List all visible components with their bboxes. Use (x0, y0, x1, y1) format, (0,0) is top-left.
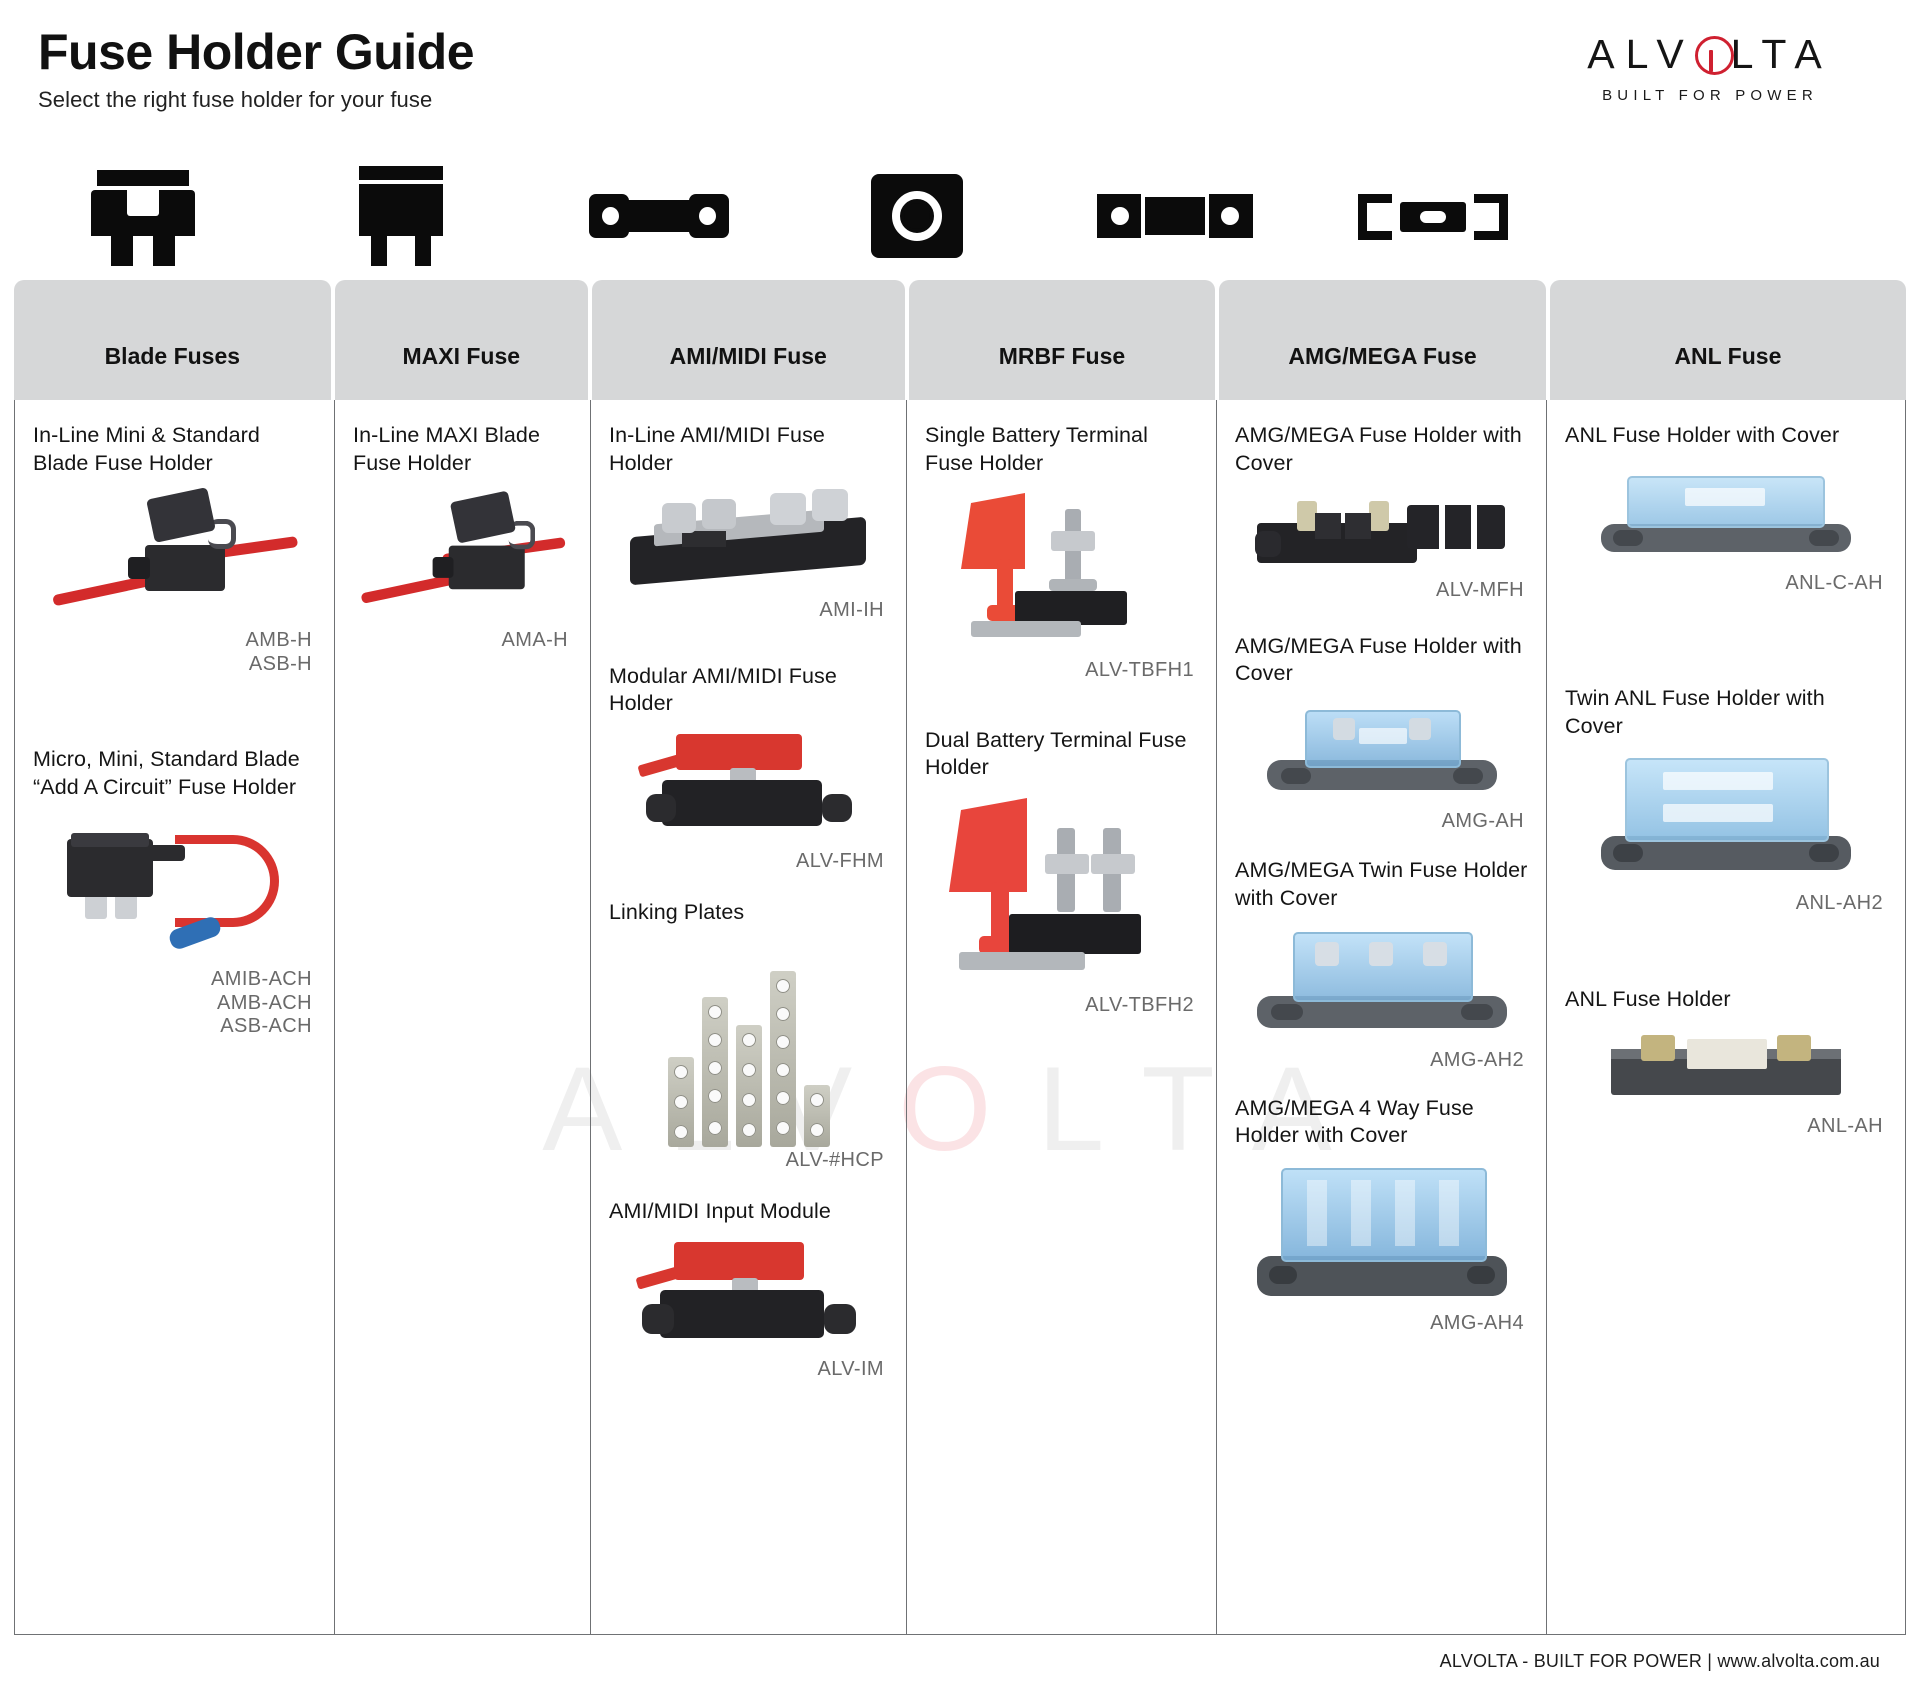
table-header-row: Blade Fuses MAXI Fuse AMI/MIDI Fuse MRBF… (14, 280, 1906, 400)
column-mrbf-fuse: Single Battery Terminal Fuse Holder ALV-… (906, 400, 1216, 1635)
product-sku: ALV-TBFH1 (925, 659, 1198, 683)
product-sku: ALV-MFH (1235, 579, 1528, 603)
product-image-anl-ah (1611, 1023, 1841, 1113)
product-name: Modular AMI/MIDI Fuse Holder (609, 663, 888, 718)
fuse-type-icon-strip (14, 146, 1906, 266)
product-name: AMI/MIDI Input Module (609, 1198, 888, 1226)
product-alv-tbfh2[interactable]: Dual Battery Terminal Fuse Holder ALV-TB… (925, 727, 1198, 1018)
product-image-anl-ah2 (1601, 750, 1851, 890)
product-image-linking-plates (634, 937, 864, 1147)
product-image-amg-ah2 (1257, 922, 1507, 1047)
column-blade-fuses: In-Line Mini & Standard Blade Fuse Holde… (14, 400, 334, 1635)
brand-logo: ALVOLTA BUILT FOR POWER (1550, 34, 1870, 104)
product-sku: AMG-AH (1235, 810, 1528, 834)
product-name: Single Battery Terminal Fuse Holder (925, 422, 1198, 477)
product-name: In-Line AMI/MIDI Fuse Holder (609, 422, 888, 477)
product-image-anl-c-ah (1601, 460, 1851, 570)
product-sku: ANL-AH (1565, 1115, 1887, 1139)
product-name: Dual Battery Terminal Fuse Holder (925, 727, 1198, 782)
product-name: AMG/MEGA Fuse Holder with Cover (1235, 633, 1528, 688)
product-anl-c-ah[interactable]: ANL Fuse Holder with Cover ANL-C-AH (1565, 422, 1887, 595)
product-name: AMG/MEGA Twin Fuse Holder with Cover (1235, 857, 1528, 912)
product-image-mega-holder-cover (1257, 487, 1507, 577)
column-header-ami-midi-fuse: AMI/MIDI Fuse (592, 280, 905, 400)
column-header-mrbf-fuse: MRBF Fuse (909, 280, 1216, 400)
product-image-single-battery-terminal (957, 487, 1167, 657)
column-header-blade-fuses: Blade Fuses (14, 280, 331, 400)
product-name: Twin ANL Fuse Holder with Cover (1565, 685, 1887, 740)
product-sku: AMIB-ACH (33, 968, 316, 992)
product-sku: ALV-TBFH2 (925, 994, 1198, 1018)
maxi-fuse-icon (347, 166, 455, 266)
anl-fuse-icon (1358, 194, 1508, 240)
product-alv-hcp[interactable]: Linking Plates ALV-#HCP (609, 899, 888, 1172)
product-sku: AMB-H (33, 629, 316, 653)
fuse-holder-guide-page: Fuse Holder Guide Select the right fuse … (0, 0, 1920, 1705)
product-sku: AMI-IH (609, 599, 888, 623)
product-ami-ih[interactable]: In-Line AMI/MIDI Fuse Holder AMI-IH (609, 422, 888, 623)
icon-cell-mrbf (788, 156, 1046, 266)
icon-cell-anl (1304, 156, 1562, 266)
product-amg-ah2[interactable]: AMG/MEGA Twin Fuse Holder with Cover AMG… (1235, 857, 1528, 1073)
ami-midi-fuse-icon (589, 192, 729, 240)
blade-fuse-icon (89, 170, 197, 266)
logo-text-left: ALV (1587, 31, 1694, 77)
product-amb-ach[interactable]: Micro, Mini, Standard Blade “Add A Circu… (33, 746, 316, 1039)
product-alv-fhm[interactable]: Modular AMI/MIDI Fuse Holder ALV-FHM (609, 663, 888, 874)
product-image-amg-ah (1267, 698, 1497, 808)
logo-text-right: LTA (1731, 31, 1833, 77)
product-sku: AMA-H (353, 629, 572, 653)
amg-mega-fuse-icon (1097, 194, 1253, 238)
product-sku: ASB-ACH (33, 1015, 316, 1039)
product-image-modular-ami-holder (634, 728, 864, 848)
product-image-inline-maxi-holder (359, 491, 568, 624)
product-image-inline-blade-holder (50, 487, 300, 627)
product-image-ami-inline-holder (624, 487, 874, 597)
product-image-ami-input-module (634, 1236, 864, 1356)
product-amb-h[interactable]: In-Line Mini & Standard Blade Fuse Holde… (33, 422, 316, 676)
product-sku: ALV-#HCP (609, 1149, 888, 1173)
logo-tagline: BUILT FOR POWER (1550, 87, 1870, 104)
product-name: AMG/MEGA 4 Way Fuse Holder with Cover (1235, 1095, 1528, 1150)
logo-wordmark: ALVOLTA (1587, 34, 1833, 75)
product-name: Linking Plates (609, 899, 888, 927)
product-name: ANL Fuse Holder with Cover (1565, 422, 1887, 450)
logo-o-icon: O (1695, 34, 1731, 75)
product-name: In-Line Mini & Standard Blade Fuse Holde… (33, 422, 316, 477)
product-name: AMG/MEGA Fuse Holder with Cover (1235, 422, 1528, 477)
product-sku: ANL-AH2 (1565, 892, 1887, 916)
product-alv-im[interactable]: AMI/MIDI Input Module ALV-IM (609, 1198, 888, 1381)
product-sku: ANL-C-AH (1565, 572, 1887, 596)
product-amg-ah4[interactable]: AMG/MEGA 4 Way Fuse Holder with Cover AM… (1235, 1095, 1528, 1336)
column-anl-fuse: ANL Fuse Holder with Cover ANL-C-AH Twin… (1546, 400, 1906, 1635)
product-ama-h[interactable]: In-Line MAXI Blade Fuse Holder AMA-H (353, 422, 572, 653)
icon-cell-amg (1046, 156, 1304, 266)
product-anl-ah[interactable]: ANL Fuse Holder ANL-AH (1565, 986, 1887, 1139)
table-body-row: In-Line Mini & Standard Blade Fuse Holde… (14, 400, 1906, 1635)
product-alv-mfh[interactable]: AMG/MEGA Fuse Holder with Cover ALV-MFH (1235, 422, 1528, 603)
column-header-maxi-fuse: MAXI Fuse (335, 280, 588, 400)
product-sku: ALV-IM (609, 1358, 888, 1382)
product-sku: AMB-ACH (33, 992, 316, 1016)
column-amg-mega-fuse: AMG/MEGA Fuse Holder with Cover ALV-MFH … (1216, 400, 1546, 1635)
mrbf-fuse-icon (871, 174, 963, 258)
icon-cell-ami (530, 156, 788, 266)
product-alv-tbfh1[interactable]: Single Battery Terminal Fuse Holder ALV-… (925, 422, 1198, 683)
icon-cell-maxi (272, 156, 530, 266)
product-name: ANL Fuse Holder (1565, 986, 1887, 1014)
column-maxi-fuse: In-Line MAXI Blade Fuse Holder AMA-H (334, 400, 590, 1635)
product-sku: ASB-H (33, 653, 316, 677)
product-image-amg-ah4 (1257, 1160, 1507, 1310)
product-amg-ah[interactable]: AMG/MEGA Fuse Holder with Cover AMG-AH (1235, 633, 1528, 834)
page-header: Fuse Holder Guide Select the right fuse … (14, 0, 1906, 140)
product-name: Micro, Mini, Standard Blade “Add A Circu… (33, 746, 316, 801)
page-footer: ALVOLTA - BUILT FOR POWER | www.alvolta.… (14, 1635, 1906, 1672)
column-ami-midi-fuse: In-Line AMI/MIDI Fuse Holder AMI-IH Modu… (590, 400, 906, 1635)
product-image-add-a-circuit (45, 811, 305, 966)
icon-cell-blade (14, 156, 272, 266)
product-anl-ah2[interactable]: Twin ANL Fuse Holder with Cover ANL-AH2 (1565, 685, 1887, 916)
column-header-anl-fuse: ANL Fuse (1550, 280, 1906, 400)
product-sku: ALV-FHM (609, 850, 888, 874)
product-image-dual-battery-terminal (947, 792, 1177, 992)
product-sku: AMG-AH2 (1235, 1049, 1528, 1073)
column-header-amg-mega-fuse: AMG/MEGA Fuse (1219, 280, 1546, 400)
fuse-holder-table: Blade Fuses MAXI Fuse AMI/MIDI Fuse MRBF… (14, 280, 1906, 1635)
product-sku: AMG-AH4 (1235, 1312, 1528, 1336)
product-name: In-Line MAXI Blade Fuse Holder (353, 422, 572, 477)
